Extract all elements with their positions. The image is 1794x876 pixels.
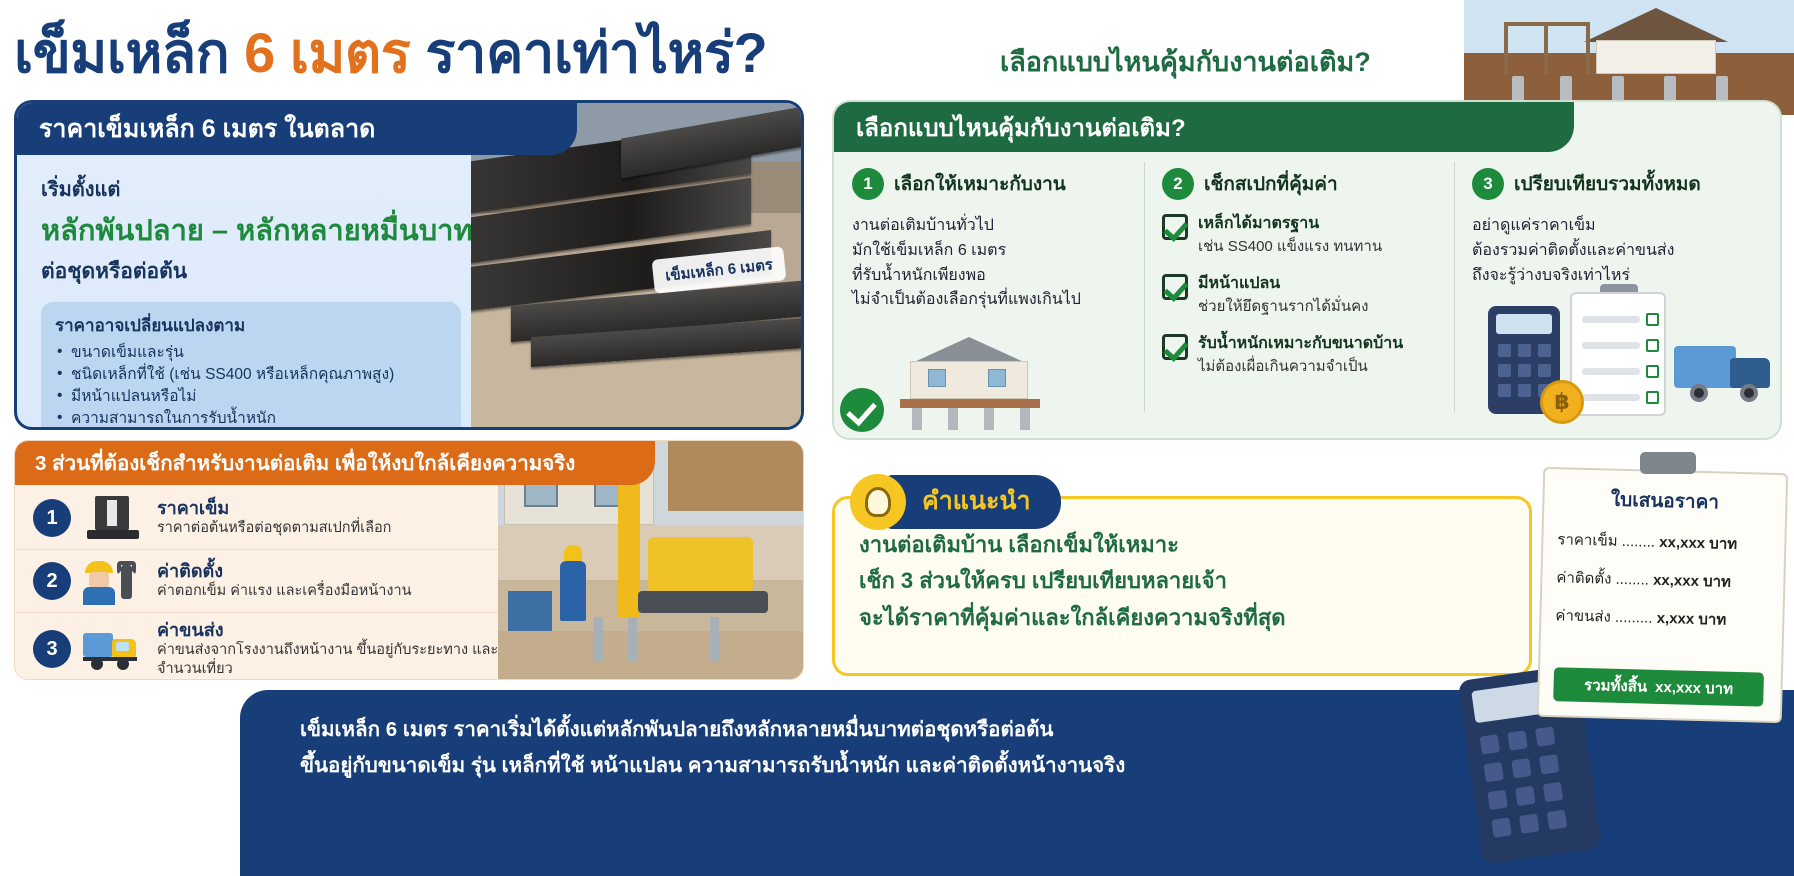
market-price-header: ราคาเข็มเหล็ก 6 เมตร ในตลาด <box>17 103 577 155</box>
mini-pile-shape <box>948 408 958 430</box>
quotation-total: รวมทั้งสิ้น xx,xxx บาท <box>1553 667 1764 706</box>
list-item: 1 ราคาเข็ม ราคาต่อต้นหรือต่อชุดตามสเปกที… <box>15 487 520 550</box>
advice-line: งานต่อเติมบ้าน เลือกเข็มให้เหมาะ <box>859 527 1509 563</box>
house-frame-shape <box>1504 22 1590 74</box>
column-title: เปรียบเทียบรวมทั้งหมด <box>1514 169 1701 199</box>
quotation-total-value: xx,xxx บาท <box>1655 675 1733 701</box>
column-body: อย่าดูแค่ราคาเข็ม ต้องรวมค่าติดตั้งและค่… <box>1472 214 1768 288</box>
part-text: ค่าขนส่ง ค่าขนส่งจากโรงงานถึงหน้างาน ขึ้… <box>157 620 510 678</box>
market-per-unit: ต่อชุดหรือต่อต้น <box>41 255 454 288</box>
check-desc: ช่วยให้ยึดฐานรากได้มั่นคง <box>1198 298 1368 315</box>
title-accent: 6 เมตร <box>244 21 410 84</box>
price-factors-list: ขนาดเข็มและรุ่น ชนิดเหล็กที่ใช้ (เช่น SS… <box>55 342 447 430</box>
column-title: เช็กสเปกที่คุ้มค่า <box>1204 169 1338 199</box>
market-price-range: หลักพันปลาย – หลักหลายหมื่นบาท <box>41 207 454 253</box>
calculator-checklist-truck-illustration: ฿ <box>1478 288 1778 438</box>
quotation-label: ค่าติดตั้ง ........ <box>1556 569 1649 588</box>
house-body-shape <box>1596 40 1716 74</box>
part-title: ราคาเข็ม <box>157 498 391 519</box>
quotation-value: xx,xxx บาท <box>1653 572 1731 591</box>
checklist-icon <box>1570 292 1666 416</box>
infographic-page: เข็มเหล็ก 6 เมตร ราคาเท่าไหร่? เลือกแบบไ… <box>0 0 1794 876</box>
roof-shape <box>1584 8 1728 42</box>
advice-line: จะได้ราคาที่คุ้มค่าและใกล้เคียงความจริงท… <box>859 600 1509 636</box>
advice-badge: คำแนะนำ <box>832 476 1061 528</box>
page-subtitle: เลือกแบบไหนคุ้มกับงานต่อเติม? <box>1000 40 1371 83</box>
part-desc: ค่าขนส่งจากโรงงานถึงหน้างาน ขึ้นอยู่กับร… <box>157 641 510 679</box>
list-item: 2 ค่าติดตั้ง ค่าตอกเข็ม ค่าแรง และเครื่อ… <box>15 550 520 613</box>
choose-column-3-head: 3 เปรียบเทียบรวมทั้งหมด <box>1472 168 1768 200</box>
market-price-card: ราคาเข็มเหล็ก 6 เมตร ในตลาด เริ่มตั้งแต่… <box>14 100 804 430</box>
checkbox-checked-icon <box>1162 274 1188 300</box>
mini-pile-shape <box>912 408 922 430</box>
quotation-value: x,xxx บาท <box>1656 610 1726 629</box>
choose-column-1: 1 เลือกให้เหมาะกับงาน งานต่อเติมบ้านทั่ว… <box>834 154 1144 440</box>
check-title: มีหน้าแปลน <box>1198 274 1368 294</box>
market-from-label: เริ่มตั้งแต่ <box>41 173 454 205</box>
list-item: ชนิดเหล็กที่ใช้ (เช่น SS400 หรือเหล็กคุณ… <box>55 364 447 386</box>
mini-roof-shape <box>894 337 1044 363</box>
quotation-label: ราคาเข็ม ........ <box>1557 531 1655 551</box>
check-desc: ไม่ต้องเผื่อเกินความจำเป็น <box>1198 358 1368 375</box>
column-title: เลือกให้เหมาะกับงาน <box>894 169 1066 199</box>
list-item: มีหน้าแปลนหรือไม่ <box>55 386 447 408</box>
clipboard-clip-icon <box>1640 452 1696 474</box>
lightbulb-icon <box>850 474 906 530</box>
quotation-total-label: รวมทั้งสิ้น <box>1584 673 1648 699</box>
mini-house-illustration <box>884 337 1054 432</box>
quotation-row: ราคาเข็ม ........ xx,xxx บาท <box>1557 527 1785 557</box>
advice-body: งานต่อเติมบ้าน เลือกเข็มให้เหมาะ เช็ก 3 … <box>859 527 1509 636</box>
column-number: 3 <box>1472 168 1504 200</box>
part-text: ราคาเข็ม ราคาต่อต้นหรือต่อชุดตามสเปกที่เ… <box>157 498 391 538</box>
part-number: 3 <box>33 630 71 668</box>
check-title: เหล็กได้มาตรฐาน <box>1198 214 1382 234</box>
quotation-row: ค่าขนส่ง ......... x,xxx บาท <box>1555 603 1783 633</box>
quotation-paper: ใบเสนอราคา ราคาเข็ม ........ xx,xxx บาท … <box>1537 467 1788 723</box>
mini-window-shape <box>988 369 1006 387</box>
checkbox-checked-icon <box>1162 334 1188 360</box>
part-number: 1 <box>33 499 71 537</box>
column-number: 1 <box>852 168 884 200</box>
how-to-choose-header: เลือกแบบไหนคุ้มกับงานต่อเติม? <box>834 102 1574 152</box>
page-title: เข็มเหล็ก 6 เมตร ราคาเท่าไหร่? <box>14 8 767 97</box>
how-to-choose-card: เลือกแบบไหนคุ้มกับงานต่อเติม? 1 เลือกให้… <box>832 100 1782 440</box>
house-construction-illustration <box>1464 0 1794 115</box>
part-text: ค่าติดตั้ง ค่าตอกเข็ม ค่าแรง และเครื่องม… <box>157 561 412 601</box>
choose-column-3: 3 เปรียบเทียบรวมทั้งหมด อย่าดูแค่ราคาเข็… <box>1454 154 1782 440</box>
checkbox-checked-icon <box>1162 214 1188 240</box>
list-item: 3 ค่าขนส่ง ค่าขนส่งจากโรงงานถึงหน้างาน ข… <box>15 613 520 680</box>
quotation-value: xx,xxx บาท <box>1659 534 1737 553</box>
three-parts-list: 1 ราคาเข็ม ราคาต่อต้นหรือต่อชุดตามสเปกที… <box>15 487 520 680</box>
choose-column-1-head: 1 เลือกให้เหมาะกับงาน <box>852 168 1128 200</box>
coin-icon: ฿ <box>1540 380 1584 424</box>
quotation-title: ใบเสนอราคา <box>1544 483 1786 519</box>
part-title: ค่าขนส่ง <box>157 620 510 641</box>
part-number: 2 <box>33 562 71 600</box>
check-title: รับน้ำหนักเหมาะกับขนาดบ้าน <box>1198 334 1403 354</box>
mini-deck-shape <box>900 399 1040 408</box>
check-text: รับน้ำหนักเหมาะกับขนาดบ้าน ไม่ต้องเผื่อเ… <box>1198 334 1403 378</box>
header: เข็มเหล็ก 6 เมตร ราคาเท่าไหร่? เลือกแบบไ… <box>0 0 1794 100</box>
three-parts-header: 3 ส่วนที่ต้องเช็กสำหรับงานต่อเติม เพื่อใ… <box>15 441 655 485</box>
market-price-body: เริ่มตั้งแต่ หลักพันปลาย – หลักหลายหมื่น… <box>17 155 472 430</box>
advice-label: คำแนะนำ <box>886 475 1061 529</box>
list-item: เหล็กได้มาตรฐาน เช่น SS400 แข็งแรง ทนทาน <box>1162 214 1438 258</box>
truck-icon <box>83 625 145 673</box>
title-part-1: เข็มเหล็ก <box>14 21 244 84</box>
column-number: 2 <box>1162 168 1194 200</box>
mini-window-shape <box>928 369 946 387</box>
part-desc: ราคาต่อต้นหรือต่อชุดตามสเปกที่เลือก <box>157 519 391 538</box>
mini-pile-shape <box>984 408 994 430</box>
truck-wheel-shape <box>1740 384 1758 402</box>
title-part-2: ราคาเท่าไหร่? <box>410 21 767 84</box>
truck-body-shape <box>1674 346 1736 388</box>
calculator-screen <box>1496 314 1552 334</box>
mini-pile-shape <box>1020 408 1030 430</box>
choose-column-2-head: 2 เช็กสเปกที่คุ้มค่า <box>1162 168 1438 200</box>
check-desc: เช่น SS400 แข็งแรง ทนทาน <box>1198 238 1382 255</box>
quotation-label: ค่าขนส่ง ......... <box>1555 607 1653 627</box>
steel-pile-icon <box>83 494 145 542</box>
check-text: มีหน้าแปลน ช่วยให้ยึดฐานรากได้มั่นคง <box>1198 274 1368 318</box>
advice-line: เช็ก 3 ส่วนให้ครบ เปรียบเทียบหลายเจ้า <box>859 563 1509 599</box>
part-title: ค่าติดตั้ง <box>157 561 412 582</box>
list-item: ความสามารถในการรับน้ำหนัก <box>55 408 447 430</box>
three-parts-card: 3 ส่วนที่ต้องเช็กสำหรับงานต่อเติม เพื่อใ… <box>14 440 804 680</box>
list-item: รับน้ำหนักเหมาะกับขนาดบ้าน ไม่ต้องเผื่อเ… <box>1162 334 1438 378</box>
price-factors-title: ราคาอาจเปลี่ยนแปลงตาม <box>55 312 447 339</box>
check-text: เหล็กได้มาตรฐาน เช่น SS400 แข็งแรง ทนทาน <box>1198 214 1382 258</box>
part-desc: ค่าตอกเข็ม ค่าแรง และเครื่องมือหน้างาน <box>157 582 412 601</box>
worker-wrench-icon <box>83 557 145 605</box>
truck-wheel-shape <box>1690 384 1708 402</box>
list-item: ขนาดเข็มและรุ่น <box>55 342 447 364</box>
column-body: งานต่อเติมบ้านทั่วไป มักใช้เข็มเหล็ก 6 เ… <box>852 214 1128 313</box>
list-item: มีหน้าแปลน ช่วยให้ยึดฐานรากได้มั่นคง <box>1162 274 1438 318</box>
quotation-row: ค่าติดตั้ง ........ xx,xxx บาท <box>1556 565 1784 595</box>
check-circle-icon <box>840 388 884 432</box>
price-factors-box: ราคาอาจเปลี่ยนแปลงตาม ขนาดเข็มและรุ่น ชน… <box>41 302 461 430</box>
choose-columns: 1 เลือกให้เหมาะกับงาน งานต่อเติมบ้านทั่ว… <box>834 154 1782 440</box>
choose-column-2: 2 เช็กสเปกที่คุ้มค่า เหล็กได้มาตรฐาน เช่… <box>1144 154 1454 440</box>
